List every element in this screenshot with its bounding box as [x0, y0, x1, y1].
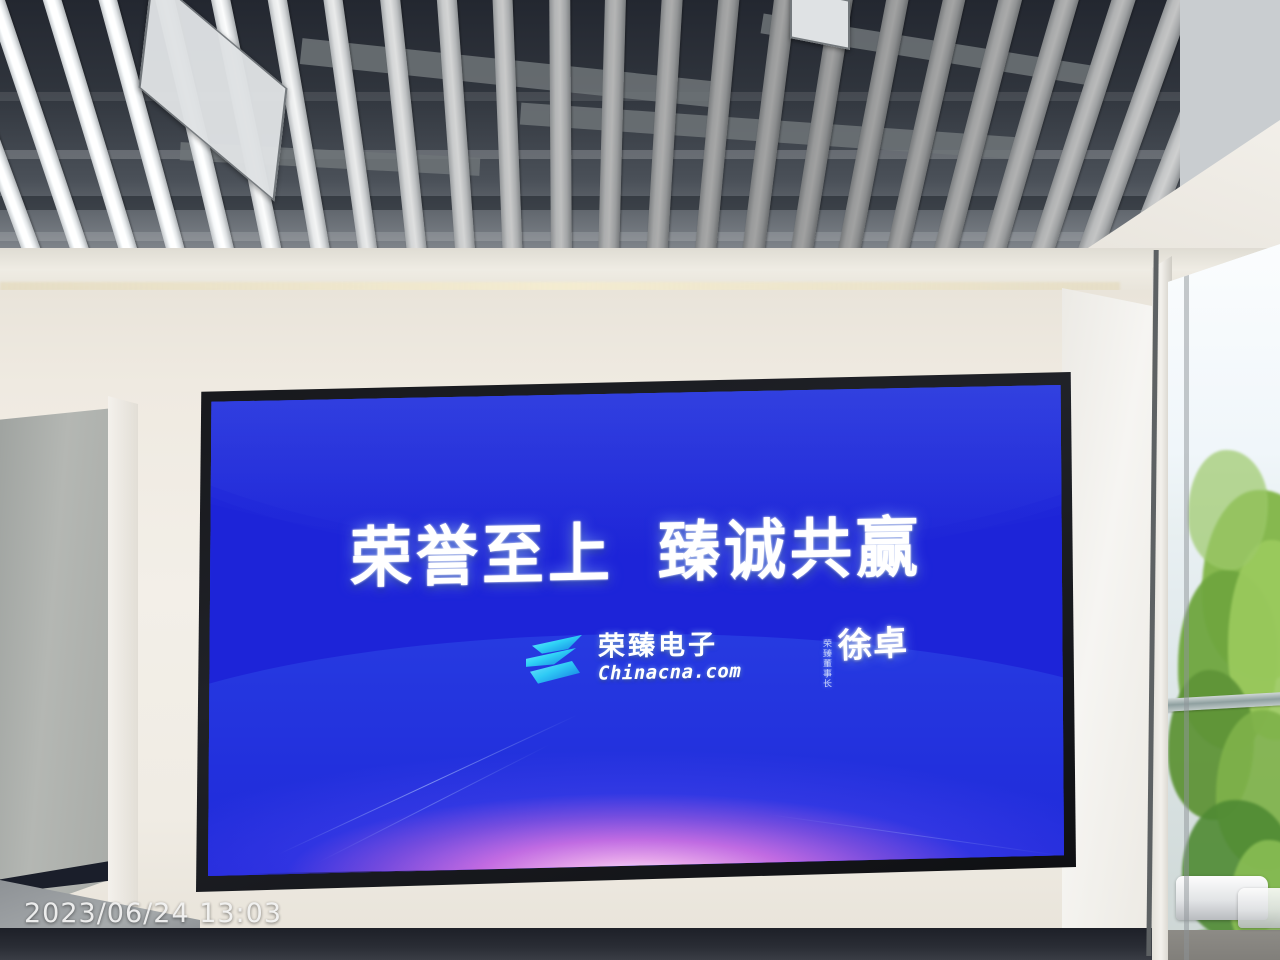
display-panel: 荣誉至上臻诚共赢 荣臻电子 China: [208, 384, 1064, 878]
floor-strip: [0, 928, 1280, 960]
window-mullion: [1184, 240, 1189, 960]
led-display[interactable]: 荣誉至上臻诚共赢 荣臻电子 China: [196, 372, 1076, 892]
signature-name: 徐卓: [837, 626, 908, 665]
slogan-gap: [614, 575, 658, 576]
chairman-signature: 荣臻董事长 徐卓: [820, 627, 908, 689]
slogan-part-1: 荣誉至上: [350, 515, 614, 597]
logo-chinese-name: 荣臻电子: [598, 631, 741, 661]
slogan-part-2: 臻诚共赢: [658, 509, 922, 591]
ceiling-baffle-system: [0, 0, 1180, 290]
logo-domain: Chinacna.com: [598, 662, 741, 684]
photo-scene: 荣誉至上臻诚共赢 荣臻电子 China: [0, 0, 1280, 960]
tree-foliage: [1188, 450, 1268, 570]
left-alcove: [0, 408, 114, 920]
ceiling-slat: [549, 0, 572, 290]
alcove-door-jamb: [108, 396, 138, 932]
timestamp-overlay: 2023/06/24 13:03: [24, 898, 282, 929]
exterior-window: [1168, 240, 1280, 960]
display-slogan: 荣誉至上臻诚共赢: [208, 491, 1064, 603]
parked-car: [1238, 888, 1280, 928]
chinacna-z-mark-icon: [524, 633, 586, 686]
signature-title: 荣臻董事长: [820, 639, 833, 689]
company-logo: 荣臻电子 Chinacna.com: [524, 630, 741, 686]
logo-text-block: 荣臻电子 Chinacna.com: [598, 631, 741, 684]
